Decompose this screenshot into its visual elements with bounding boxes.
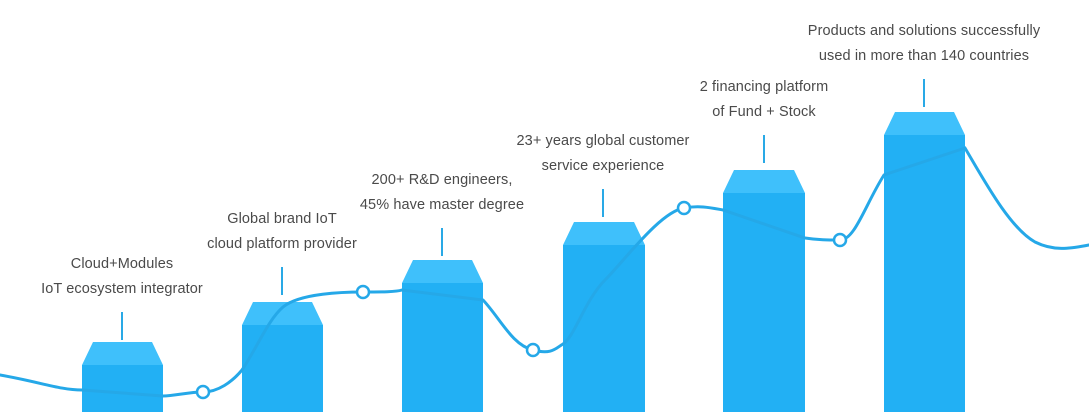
- curve-marker-5: [834, 234, 846, 246]
- bar-top-face: [82, 342, 163, 365]
- milestone-label-4: 23+ years global customerservice experie…: [517, 129, 690, 179]
- milestone-label-3: 200+ R&D engineers,45% have master degre…: [360, 168, 524, 218]
- bar-2: [242, 302, 323, 412]
- bar-top-face: [242, 302, 323, 325]
- bar-body: [82, 365, 163, 412]
- milestone-chart-canvas: Cloud+ModulesIoT ecosystem integratorGlo…: [0, 0, 1089, 412]
- milestone-label-5: 2 financing platformof Fund + Stock: [700, 75, 829, 125]
- milestone-label-line1: Products and solutions successfully: [808, 23, 1040, 39]
- milestone-label-line1: Cloud+Modules: [71, 256, 173, 272]
- milestone-label-line1: 2 financing platform: [700, 79, 829, 95]
- milestone-label-1: Cloud+ModulesIoT ecosystem integrator: [41, 252, 203, 302]
- bar-6: [884, 112, 965, 412]
- milestone-label-line1: 200+ R&D engineers,: [372, 172, 513, 188]
- milestone-label-line1: 23+ years global customer: [517, 133, 690, 149]
- bar-3: [402, 260, 483, 412]
- milestone-label-line2: service experience: [517, 154, 690, 179]
- milestone-label-line2: cloud platform provider: [207, 232, 357, 257]
- bar-top-face: [402, 260, 483, 283]
- curve-marker-1: [197, 386, 209, 398]
- bar-top-face: [723, 170, 805, 193]
- milestone-label-line2: of Fund + Stock: [700, 100, 829, 125]
- bar-1: [82, 342, 163, 412]
- bar-body: [884, 135, 965, 412]
- curve-marker-4: [678, 202, 690, 214]
- bar-body: [242, 325, 323, 412]
- bar-body: [402, 283, 483, 412]
- milestone-label-line2: IoT ecosystem integrator: [41, 277, 203, 302]
- milestone-label-line2: used in more than 140 countries: [808, 44, 1040, 69]
- bar-body: [723, 193, 805, 412]
- bar-top-face: [884, 112, 965, 135]
- curve-marker-2: [357, 286, 369, 298]
- milestone-label-line1: Global brand IoT: [227, 211, 337, 227]
- milestone-label-2: Global brand IoTcloud platform provider: [207, 207, 357, 257]
- bar-top-face: [563, 222, 645, 245]
- curve-marker-3: [527, 344, 539, 356]
- milestone-label-line2: 45% have master degree: [360, 193, 524, 218]
- milestone-label-6: Products and solutions successfullyused …: [808, 19, 1040, 69]
- bar-5: [723, 170, 805, 412]
